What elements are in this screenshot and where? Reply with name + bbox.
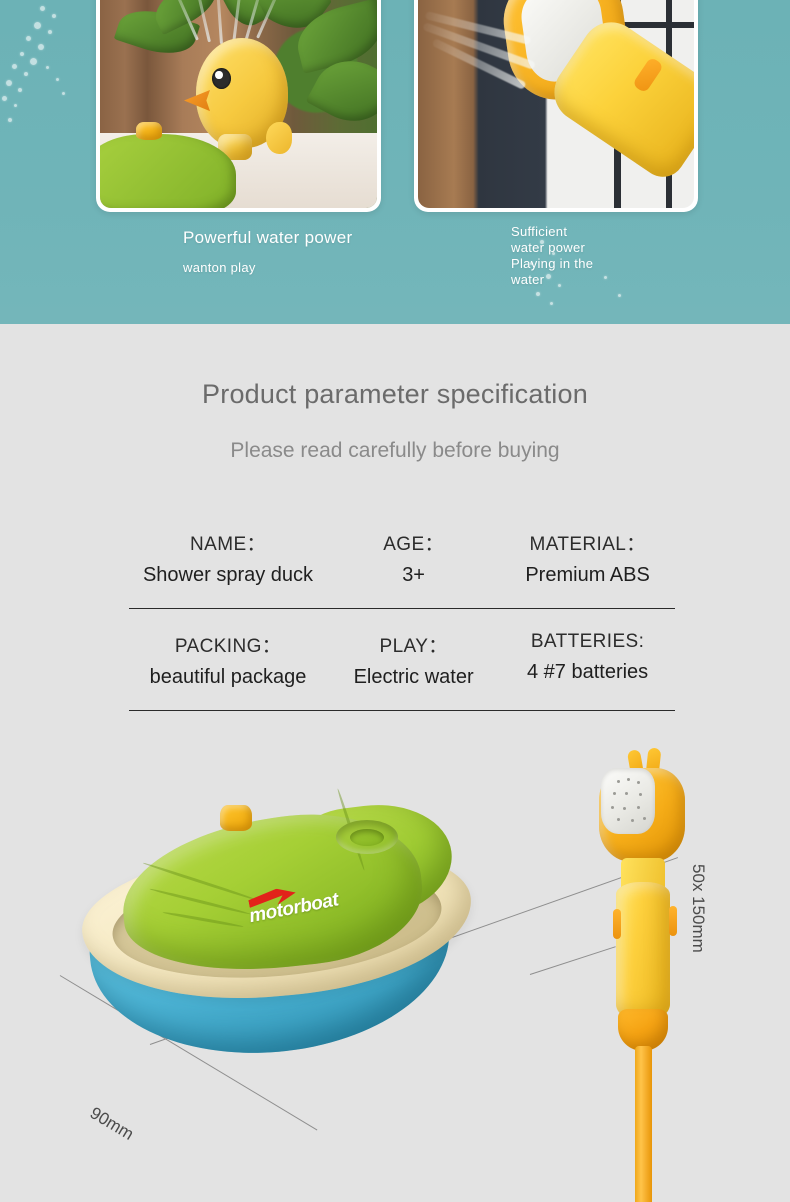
spec-value: 4 #7 batteries [483, 661, 692, 684]
boat-knob [136, 122, 162, 140]
spec-key: PACKING： [112, 631, 344, 658]
spec-key: PLAY： [344, 631, 483, 658]
spec-key: BATTERIES: [483, 631, 692, 653]
spray-hole [637, 806, 640, 809]
duck-eye [212, 68, 231, 89]
hero-card-right [414, 0, 698, 212]
spray-hole [613, 792, 616, 795]
spray-hole [617, 780, 620, 783]
hero-caption-left-secondary: wanton play [183, 260, 256, 275]
hero-card-left [96, 0, 381, 212]
spray-hole [625, 792, 628, 795]
table-divider [129, 710, 675, 711]
spray-hole [639, 793, 642, 796]
spray-hole [623, 807, 626, 810]
spray-hole [637, 781, 640, 784]
water-splash-decoration-left [0, 0, 90, 130]
spec-cell-packing: PACKING： beautiful package [112, 631, 344, 689]
wand-button-left[interactable] [613, 909, 621, 939]
spray-hole [631, 819, 634, 822]
hero-section: Powerful water power wanton play Suffici… [0, 0, 790, 324]
spec-value: Shower spray duck [112, 564, 344, 587]
spec-value: Electric water [344, 666, 483, 689]
wand-hose-tube [635, 1046, 652, 1202]
hero-caption-right-line-1: Sufficient [511, 224, 567, 239]
hero-caption-right-line-4: water [511, 272, 544, 287]
spec-cell-batteries: BATTERIES: 4 #7 batteries [483, 631, 692, 684]
spec-key: MATERIAL： [483, 529, 692, 556]
product-detail-page: Powerful water power wanton play Suffici… [0, 0, 790, 1202]
spec-key: NAME： [112, 529, 344, 556]
hero-caption-left-primary: Powerful water power [183, 228, 352, 248]
wand-button-right[interactable] [669, 906, 677, 936]
wand-end-cap [618, 1009, 668, 1051]
spec-cell-name: NAME： Shower spray duck [112, 529, 344, 587]
hero-caption-right-line-2: water power [511, 240, 585, 255]
spray-hole [617, 818, 620, 821]
spray-hole [643, 817, 646, 820]
boat-switch-knob[interactable] [220, 805, 252, 831]
spec-value: 3+ [344, 564, 483, 587]
spec-cell-play: PLAY： Electric water [344, 631, 483, 689]
shower-wand-product-image [585, 754, 705, 1202]
page-subtitle: Please read carefully before buying [0, 439, 790, 463]
page-title: Product parameter specification [0, 379, 790, 410]
duck-sprayer-photo [100, 0, 377, 208]
dimension-label-wand: 50x 150mm [688, 864, 708, 953]
spec-cell-material: MATERIAL： Premium ABS [483, 529, 692, 587]
duck-wing [266, 122, 292, 154]
spec-cell-age: AGE： 3+ [344, 529, 483, 587]
table-row: NAME： Shower spray duck AGE： 3+ MATERIAL… [112, 529, 692, 609]
wand-spray-face [601, 768, 655, 834]
spray-hole [611, 806, 614, 809]
spec-key: AGE： [344, 529, 483, 556]
specification-table: NAME： Shower spray duck AGE： 3+ MATERIAL… [112, 529, 692, 711]
spec-value: beautiful package [112, 666, 344, 689]
boat-exhaust-ring [336, 820, 398, 854]
shower-head-photo [418, 0, 694, 208]
hero-caption-right-line-3: Playing in the [511, 256, 593, 271]
motorboat-product-image: motorboat [70, 784, 490, 1069]
wand-grip [616, 882, 670, 1022]
spray-hole [627, 778, 630, 781]
spec-value: Premium ABS [483, 564, 692, 587]
table-row: PACKING： beautiful package PLAY： Electri… [112, 609, 692, 711]
specification-section: Product parameter specification Please r… [0, 324, 790, 1202]
